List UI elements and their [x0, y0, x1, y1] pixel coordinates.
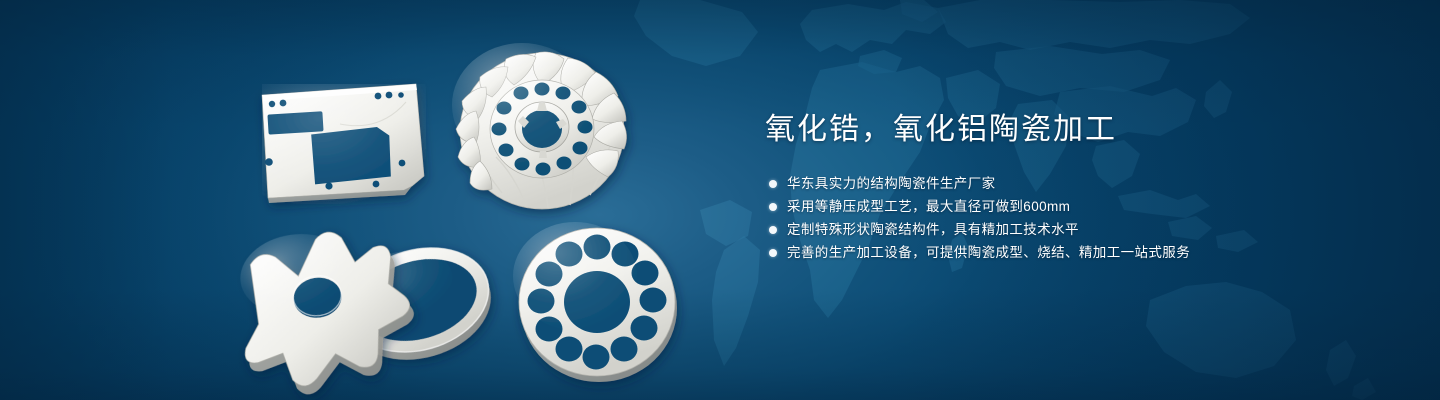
banner-copy: 氧化锆，氧化铝陶瓷加工 华东具实力的结构陶瓷件生产厂家 采用等静压成型工艺，最大…: [765, 108, 1385, 264]
product-ceramic-cross-plate: [230, 219, 423, 400]
bullet-dot-icon: [769, 180, 777, 188]
feature-list: 华东具实力的结构陶瓷件生产厂家 采用等静压成型工艺，最大直径可做到600mm 定…: [769, 172, 1385, 264]
bullet-dot-icon: [769, 203, 777, 211]
product-ceramic-hole-flange: [513, 222, 677, 382]
list-item: 华东具实力的结构陶瓷件生产厂家: [769, 172, 1385, 195]
page-title: 氧化锆，氧化铝陶瓷加工: [765, 108, 1385, 152]
list-item: 采用等静压成型工艺，最大直径可做到600mm: [769, 195, 1385, 218]
feature-text: 采用等静压成型工艺，最大直径可做到600mm: [787, 195, 1070, 218]
bullet-dot-icon: [769, 249, 777, 257]
product-ceramic-impeller: [452, 43, 627, 209]
product-photo-cluster: [0, 0, 760, 400]
hero-banner: 氧化锆，氧化铝陶瓷加工 华东具实力的结构陶瓷件生产厂家 采用等静压成型工艺，最大…: [0, 0, 1440, 400]
product-ceramic-flat-plate: [262, 84, 426, 204]
bullet-dot-icon: [769, 226, 777, 234]
feature-text: 完善的生产加工设备，可提供陶瓷成型、烧结、精加工一站式服务: [787, 241, 1190, 264]
list-item: 定制特殊形状陶瓷结构件，具有精加工技术水平: [769, 218, 1385, 241]
list-item: 完善的生产加工设备，可提供陶瓷成型、烧结、精加工一站式服务: [769, 241, 1385, 264]
feature-text: 华东具实力的结构陶瓷件生产厂家: [787, 172, 996, 195]
feature-text: 定制特殊形状陶瓷结构件，具有精加工技术水平: [787, 218, 1079, 241]
